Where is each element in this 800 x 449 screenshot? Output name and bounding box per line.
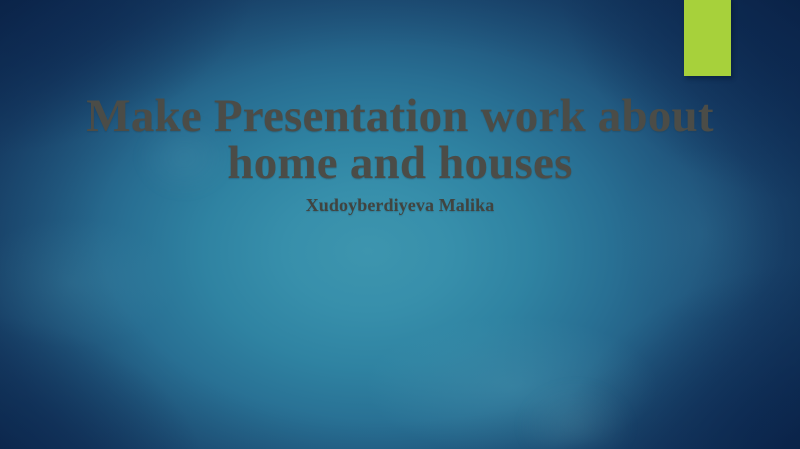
title-text-block: Make Presentation work about home and ho… (0, 93, 800, 215)
background-vignette (0, 0, 800, 449)
page-title-line-2: home and houses (0, 140, 800, 187)
page-title: Make Presentation work about home and ho… (0, 93, 800, 187)
page-title-line-1: Make Presentation work about (0, 93, 800, 140)
presentation-title-slide: Make Presentation work about home and ho… (0, 0, 800, 449)
green-accent-bar (684, 0, 731, 76)
slide-subtitle-author: Xudoyberdiyeva Malika (0, 187, 800, 215)
